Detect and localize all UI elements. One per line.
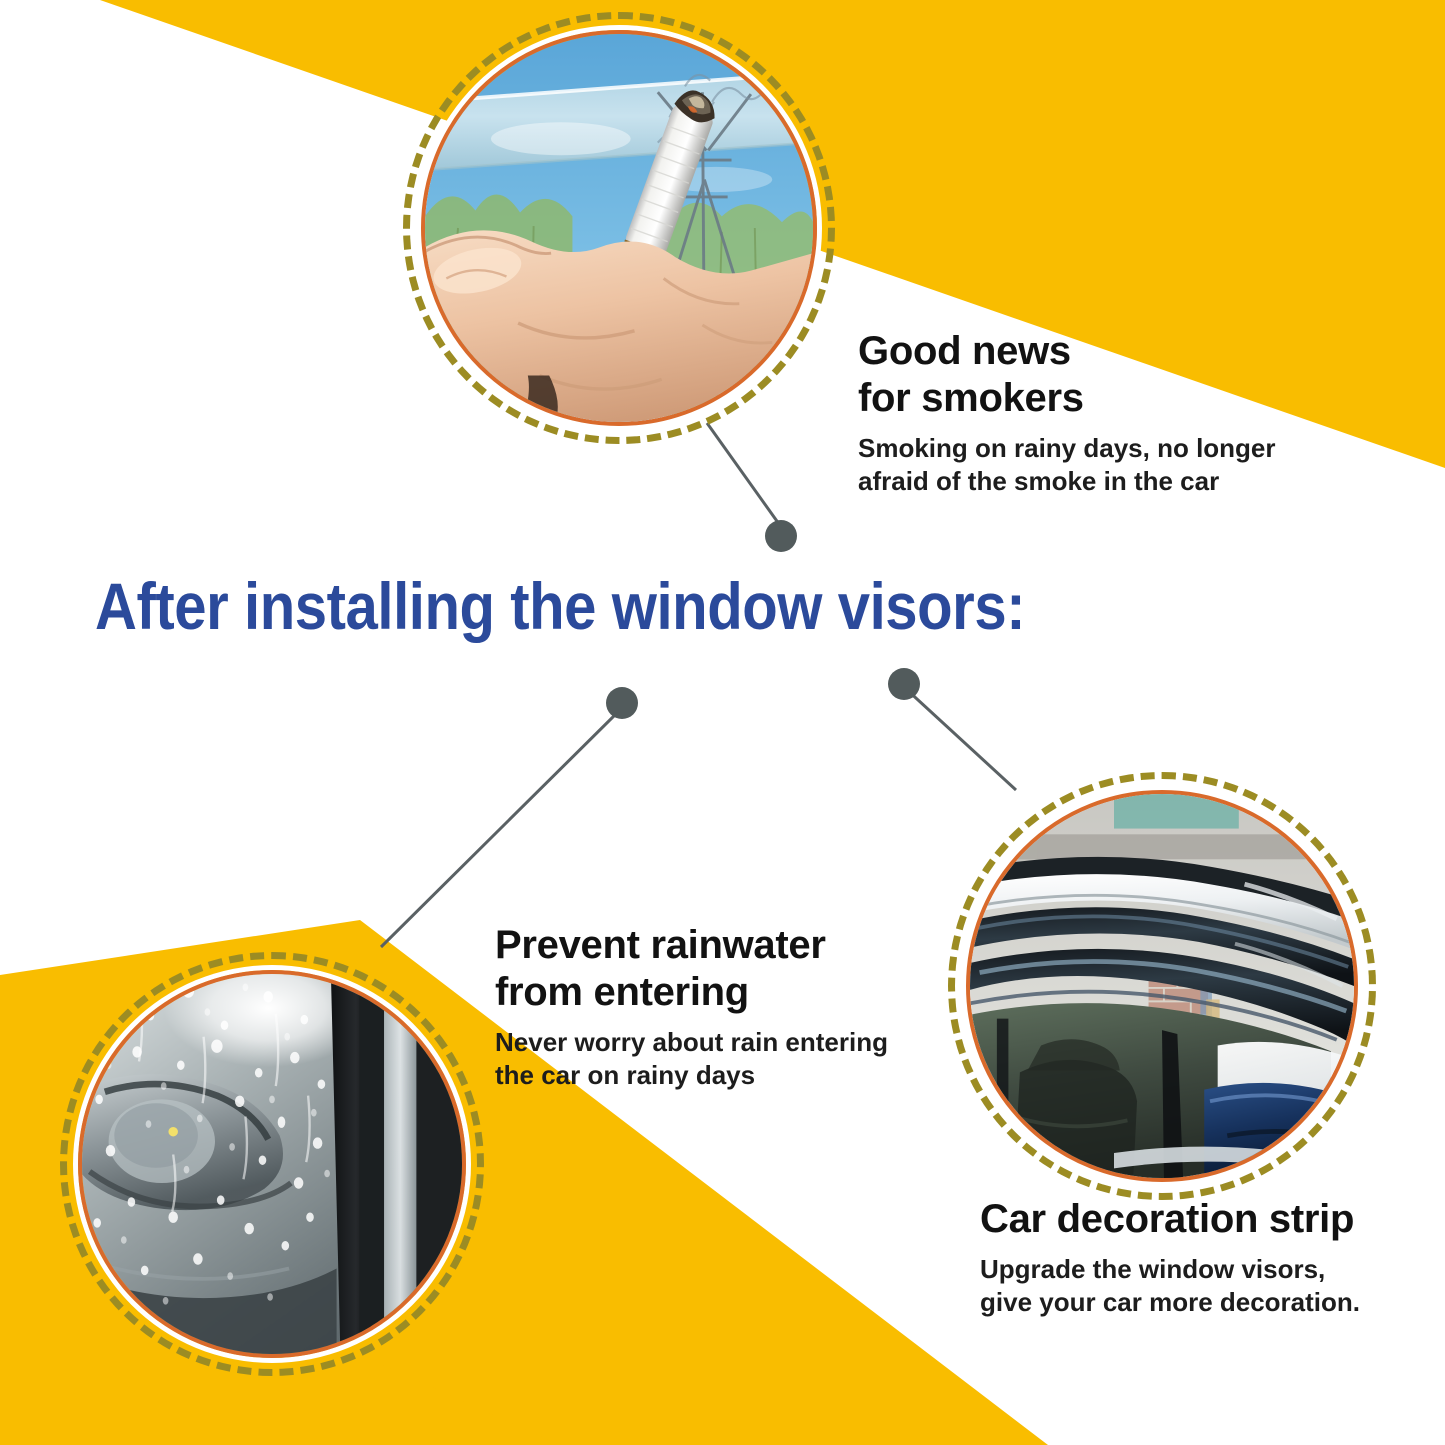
feature-subtitle-smokers: Smoking on rainy days, no longer afraid … <box>858 432 1328 497</box>
infographic-canvas: After installing the window visors: Good… <box>0 0 1445 1445</box>
page-title: After installing the window visors: <box>95 572 1025 641</box>
feature-title-decoration: Car decoration strip <box>980 1196 1410 1243</box>
callout-circle-rainwater <box>60 952 484 1376</box>
feature-subtitle-rainwater: Never worry about rain entering the car … <box>495 1026 915 1091</box>
feature-block-smokers: Good news for smokers Smoking on rainy d… <box>858 328 1328 497</box>
feature-title-rainwater: Prevent rainwater from entering <box>495 922 915 1016</box>
callout-circle-decoration <box>948 772 1376 1200</box>
photo-rain-window <box>78 970 466 1358</box>
photo-car-visors <box>966 790 1358 1182</box>
feature-subtitle-decoration: Upgrade the window visors, give your car… <box>980 1253 1410 1318</box>
feature-title-smokers: Good news for smokers <box>858 328 1328 422</box>
feature-block-decoration: Car decoration strip Upgrade the window … <box>980 1196 1410 1318</box>
callout-circle-smokers <box>403 12 835 444</box>
feature-block-rainwater: Prevent rainwater from entering Never wo… <box>495 922 915 1091</box>
photo-cigarette <box>421 30 817 426</box>
